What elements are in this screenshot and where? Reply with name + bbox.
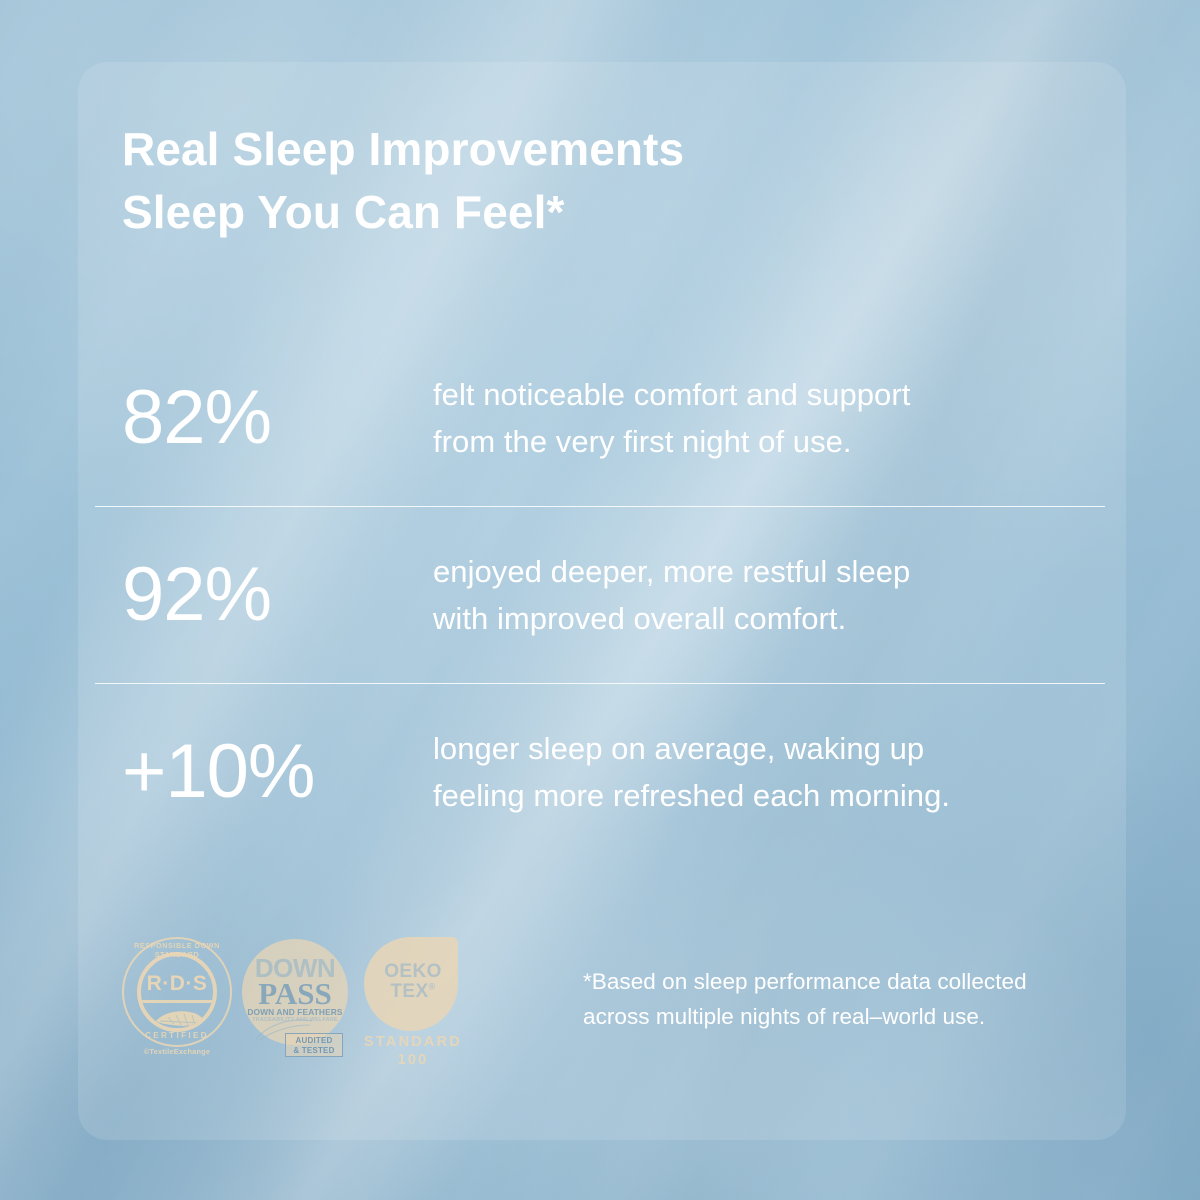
certification-badges: R·D·S RESPONSIBLE DOWN STANDARD CERTIFIE… — [118, 935, 472, 1065]
stat-description-line-1: longer sleep on average, waking up — [433, 725, 950, 772]
feather-icon — [154, 1008, 208, 1028]
stat-value: 82% — [95, 380, 433, 456]
rds-attribution-text: ©TextileExchange — [118, 1047, 236, 1056]
stat-value: 92% — [95, 557, 433, 633]
oeko-tex-line-2: TEX® — [354, 981, 472, 1003]
stat-description: longer sleep on average, waking up feeli… — [433, 725, 950, 819]
stat-description: felt noticeable comfort and support from… — [433, 371, 910, 465]
oeko-tex-standard-label: STANDARD — [354, 1034, 472, 1050]
headline-line-1: Real Sleep Improvements — [122, 118, 1022, 181]
downpass-ribbon-line-1: AUDITED — [286, 1036, 342, 1046]
footer-section: R·D·S RESPONSIBLE DOWN STANDARD CERTIFIE… — [118, 935, 1143, 1065]
stat-description-line-1: enjoyed deeper, more restful sleep — [433, 548, 910, 595]
rds-divider-bar — [141, 1000, 213, 1003]
stat-value: +10% — [95, 734, 433, 810]
rds-arc-top-text: RESPONSIBLE DOWN STANDARD — [118, 941, 236, 959]
stat-description-line-2: from the very first night of use. — [433, 418, 910, 465]
oeko-tex-standard-number: 100 — [354, 1052, 472, 1068]
stat-description-line-2: feeling more refreshed each morning. — [433, 772, 950, 819]
rds-arc-bottom-text: CERTIFIED — [118, 1031, 236, 1040]
headline-line-2: Sleep You Can Feel* — [122, 181, 1022, 244]
rds-certification-badge-icon: R·D·S RESPONSIBLE DOWN STANDARD CERTIFIE… — [118, 935, 236, 1065]
stat-row: +10% longer sleep on average, waking up … — [95, 684, 1105, 860]
footnote-text: *Based on sleep performance data collect… — [583, 964, 1143, 1035]
stat-description-line-1: felt noticeable comfort and support — [433, 371, 910, 418]
stat-description-line-2: with improved overall comfort. — [433, 595, 910, 642]
downpass-certification-badge-icon: DOWN PASS DOWN AND FEATHERS TRACEABILITY… — [236, 935, 354, 1065]
downpass-ribbon-line-2: & TESTED — [286, 1046, 342, 1056]
stat-description: enjoyed deeper, more restful sleep with … — [433, 548, 910, 642]
oeko-tex-certification-badge-icon: OEKO TEX® STANDARD 100 — [354, 935, 472, 1065]
stats-list: 82% felt noticeable comfort and support … — [95, 330, 1105, 860]
footnote-line-1: *Based on sleep performance data collect… — [583, 964, 1143, 999]
downpass-audited-ribbon: AUDITED & TESTED — [285, 1033, 343, 1057]
page-title: Real Sleep Improvements Sleep You Can Fe… — [122, 118, 1022, 243]
rds-initials: R·D·S — [141, 972, 213, 996]
stat-row: 82% felt noticeable comfort and support … — [95, 330, 1105, 506]
footnote-line-2: across multiple nights of real–world use… — [583, 999, 1143, 1034]
rds-inner-ring: R·D·S — [137, 952, 217, 1032]
oeko-tex-line-1: OEKO — [354, 961, 472, 983]
registered-mark: ® — [429, 982, 436, 992]
stat-row: 92% enjoyed deeper, more restful sleep w… — [95, 507, 1105, 683]
